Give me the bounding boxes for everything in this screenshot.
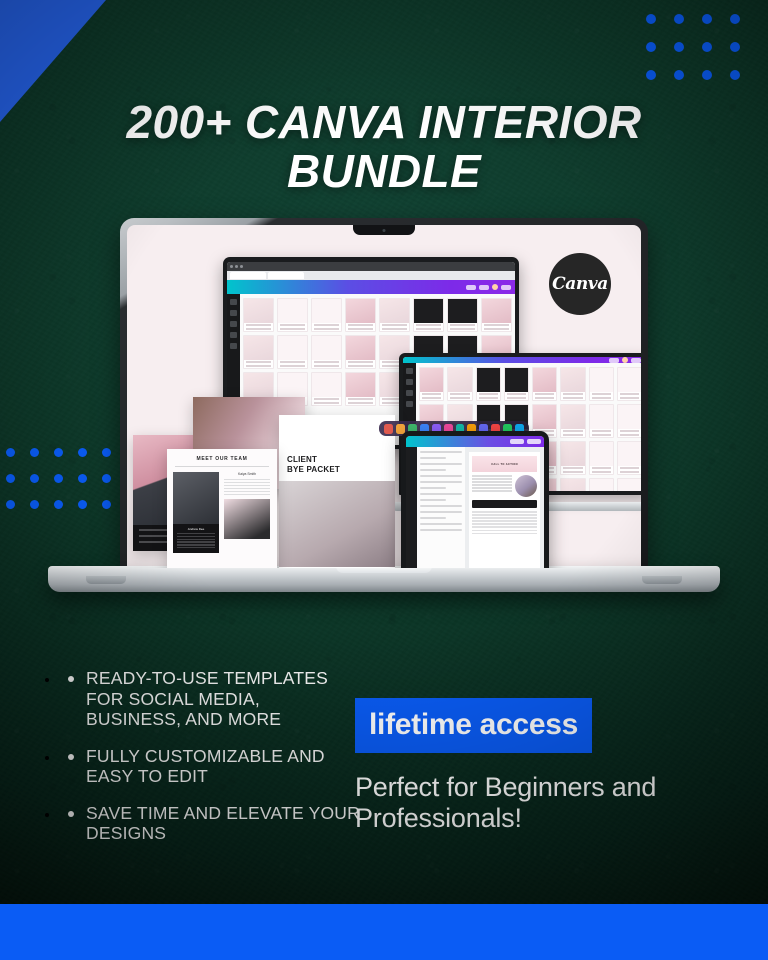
canva-toolbar — [227, 280, 515, 294]
template-thumbnail-line — [280, 365, 305, 367]
template-thumbnail-image — [505, 368, 528, 392]
template-thumbnail-image — [244, 299, 273, 323]
promo-subtitle: Perfect for Beginners and Professionals! — [355, 772, 685, 834]
feature-list: Ready-to-use templates for social media,… — [60, 668, 360, 844]
template-thumbnail-image — [618, 405, 641, 429]
template-thumbnail-image — [482, 299, 511, 323]
template-thumbnail-line — [246, 361, 271, 363]
template-thumbnail-line — [246, 324, 271, 326]
template-thumbnail-image — [533, 368, 556, 392]
list-item: Ready-to-use templates for social media,… — [60, 668, 360, 730]
template-thumbnail-line — [563, 430, 582, 432]
template-thumbnail — [532, 367, 557, 401]
laptop-screen: Canva CLIENT BYE PACKET — [127, 225, 641, 568]
template-thumbnail-image — [618, 479, 641, 491]
template-thumbnail — [617, 404, 641, 438]
template-thumbnail-line — [314, 361, 339, 363]
browser-window-controls — [227, 262, 515, 271]
flyer-client-photo — [279, 481, 395, 567]
dot — [674, 70, 684, 80]
tablet-doc-text-column — [472, 475, 512, 497]
laptop-camera-notch — [353, 225, 415, 235]
flyer-team-photo-left — [173, 472, 219, 524]
template-thumbnail — [589, 441, 614, 475]
dot — [646, 42, 656, 52]
feature-text: Save time and elevate your designs — [86, 803, 360, 844]
template-thumbnail — [413, 298, 444, 332]
template-thumbnail-line — [479, 393, 498, 395]
template-thumbnail-line — [592, 467, 611, 469]
template-thumbnail-image — [312, 373, 341, 397]
template-thumbnail — [447, 367, 472, 401]
template-thumbnail — [617, 478, 641, 491]
flyer-team-name-left: Andrew Dee — [175, 527, 217, 531]
template-thumbnail-line — [563, 471, 582, 473]
template-thumbnail-line — [246, 365, 271, 367]
template-thumbnail-line — [348, 402, 373, 404]
template-thumbnail-image — [590, 405, 613, 429]
template-thumbnail-image — [533, 405, 556, 429]
template-thumbnail-image — [278, 336, 307, 360]
laptop-foot-left — [86, 576, 126, 584]
template-thumbnail — [311, 335, 342, 369]
flyer-stack: CLIENT BYE PACKET NOVEMBER 2021 IAL SALE… — [133, 397, 343, 557]
template-thumbnail-line — [620, 467, 639, 469]
template-thumbnail — [447, 298, 478, 332]
template-thumbnail-line — [450, 393, 469, 395]
flyer-client-title-1: CLIENT — [287, 455, 387, 465]
template-thumbnail-line — [450, 397, 469, 399]
tablet-document-canvas: CALL TO ACTION — [465, 447, 544, 568]
dot — [6, 474, 15, 483]
dot-grid-top-right — [646, 14, 758, 98]
template-thumbnail — [504, 367, 529, 401]
template-thumbnail-line — [592, 471, 611, 473]
flyer-team-title: MEET OUR TEAM — [173, 456, 271, 462]
template-thumbnail-line — [535, 397, 554, 399]
template-thumbnail-image — [561, 405, 584, 429]
template-thumbnail — [277, 335, 308, 369]
template-thumbnail-line — [416, 324, 441, 326]
page-title-line-1: 200+ CANVA INTERIOR — [127, 96, 642, 148]
tablet-doc-image — [515, 475, 537, 497]
flyer-meet-our-team: MEET OUR TEAM Andrew Dee — [167, 449, 277, 568]
promo-block: lifetime access Perfect for Beginners an… — [355, 698, 685, 834]
page-title-line-2: BUNDLE — [60, 147, 708, 196]
template-thumbnail — [560, 404, 585, 438]
template-thumbnail-line — [620, 430, 639, 432]
dot — [674, 14, 684, 24]
template-thumbnail-line — [479, 397, 498, 399]
flyer-team-photo-right — [224, 499, 270, 539]
tablet-sidebar-rail — [406, 447, 417, 568]
template-thumbnail-line — [416, 328, 441, 330]
template-thumbnail — [345, 335, 376, 369]
flyer-client-packet: CLIENT BYE PACKET NOVEMBER 2021 IAL SALE… — [279, 415, 395, 568]
template-thumbnail-line — [620, 471, 639, 473]
template-thumbnail-image — [590, 368, 613, 392]
template-thumbnail-image — [346, 336, 375, 360]
template-thumbnail — [589, 367, 614, 401]
feature-text: Ready-to-use templates for social media,… — [86, 668, 360, 730]
flyer-team-member-right: Kaiya Smith — [224, 472, 270, 553]
template-thumbnail-line — [563, 434, 582, 436]
template-thumbnail-image — [618, 442, 641, 466]
flyer-team-name-right: Kaiya Smith — [224, 472, 270, 476]
dock-app-icon — [384, 424, 393, 434]
dot — [730, 42, 740, 52]
template-thumbnail-line — [563, 467, 582, 469]
laptop-foot-right — [642, 576, 682, 584]
flyer-client-title-2: BYE PACKET — [287, 465, 387, 475]
dot — [730, 70, 740, 80]
inner-tablet-screen: CALL TO ACTION — [406, 436, 544, 568]
dot — [730, 14, 740, 24]
tablet-canva-toolbar — [406, 436, 544, 447]
bullet-icon — [68, 676, 74, 682]
dot — [30, 474, 39, 483]
template-thumbnail-line — [422, 393, 441, 395]
template-thumbnail-line — [450, 328, 475, 330]
template-thumbnail-line — [348, 365, 373, 367]
template-thumbnail-line — [314, 365, 339, 367]
tablet-doc-cta-button — [472, 500, 537, 508]
dot — [646, 70, 656, 80]
list-item: Save time and elevate your designs — [60, 803, 360, 844]
flyer-team-bio-left: Andrew Dee — [173, 524, 219, 553]
template-thumbnail-line — [348, 361, 373, 363]
template-thumbnail-line — [314, 328, 339, 330]
dot — [702, 42, 712, 52]
template-thumbnail — [589, 478, 614, 491]
canva-logo-text: Canva — [552, 274, 608, 294]
template-thumbnail — [419, 367, 444, 401]
template-thumbnail-image — [448, 299, 477, 323]
template-thumbnail-line — [592, 434, 611, 436]
template-thumbnail-line — [620, 397, 639, 399]
template-thumbnail — [481, 298, 512, 332]
tablet-doc-row — [472, 475, 537, 497]
tablet-doc-body-text — [472, 511, 537, 534]
dot — [702, 70, 712, 80]
template-thumbnail — [277, 298, 308, 332]
template-thumbnail-line — [348, 324, 373, 326]
template-thumbnail-image — [380, 299, 409, 323]
template-thumbnail-line — [314, 324, 339, 326]
template-thumbnail-image — [618, 368, 641, 392]
template-thumbnail-line — [382, 328, 407, 330]
template-thumbnail-image — [414, 299, 443, 323]
template-thumbnail-line — [620, 434, 639, 436]
template-thumbnail — [617, 441, 641, 475]
template-thumbnail-line — [592, 430, 611, 432]
dot — [6, 500, 15, 509]
template-thumbnail-line — [507, 397, 526, 399]
list-item: Fully customizable and easy to edit — [60, 746, 360, 787]
template-thumbnail-line — [246, 328, 271, 330]
template-thumbnail-image — [346, 299, 375, 323]
flyer-team-divider — [175, 466, 269, 467]
template-thumbnail-image — [312, 336, 341, 360]
flyer-client-date: NOVEMBER 2021 — [279, 567, 395, 568]
template-thumbnail-image — [590, 479, 613, 491]
template-thumbnail — [243, 335, 274, 369]
template-thumbnail-image — [561, 442, 584, 466]
flyer-team-member-left: Andrew Dee — [173, 472, 219, 553]
template-thumbnail-line — [535, 393, 554, 395]
browser-tab-strip — [227, 271, 515, 280]
dot — [674, 42, 684, 52]
template-thumbnail — [243, 298, 274, 332]
template-thumbnail-line — [592, 397, 611, 399]
template-thumbnail-image — [477, 368, 500, 392]
tablet-document-page: CALL TO ACTION — [469, 452, 540, 568]
tablet-workspace: CALL TO ACTION — [406, 447, 544, 568]
tablet-doc-banner: CALL TO ACTION — [472, 456, 537, 472]
dot — [30, 500, 39, 509]
tablet-outline-panel — [417, 447, 465, 568]
template-thumbnail-image — [346, 373, 375, 397]
template-thumbnail — [560, 367, 585, 401]
template-thumbnail-image — [312, 299, 341, 323]
template-thumbnail — [345, 298, 376, 332]
laptop-mockup: Canva CLIENT BYE PACKET — [48, 218, 720, 610]
template-thumbnail-line — [348, 398, 373, 400]
template-thumbnail-line — [348, 328, 373, 330]
template-thumbnail-image — [448, 368, 471, 392]
template-thumbnail — [345, 372, 376, 406]
flyer-team-columns: Andrew Dee Kaiya Smith — [173, 472, 271, 553]
template-thumbnail — [617, 367, 641, 401]
bullet-icon — [68, 811, 74, 817]
template-thumbnail-line — [422, 397, 441, 399]
poster-canvas: 200+ CANVA INTERIOR BUNDLE Canva — [0, 0, 768, 960]
template-thumbnail-image — [278, 373, 307, 397]
feature-text: Fully customizable and easy to edit — [86, 746, 360, 787]
dot — [30, 448, 39, 457]
template-thumbnail-line — [382, 324, 407, 326]
page-title: 200+ CANVA INTERIOR BUNDLE — [0, 98, 768, 196]
user-avatar — [492, 284, 498, 290]
template-thumbnail-line — [484, 328, 509, 330]
template-thumbnail-line — [563, 393, 582, 395]
template-thumbnail-line — [280, 361, 305, 363]
template-thumbnail-image — [420, 368, 443, 392]
template-thumbnail-line — [507, 393, 526, 395]
template-thumbnail — [379, 298, 410, 332]
tablet-doc-banner-text: CALL TO ACTION — [491, 463, 518, 466]
flyer-client-header: CLIENT BYE PACKET — [279, 415, 395, 481]
bottom-accent-bar — [0, 904, 768, 960]
template-thumbnail-line — [450, 324, 475, 326]
template-thumbnail-line — [280, 324, 305, 326]
template-thumbnail-line — [620, 393, 639, 395]
template-thumbnail — [476, 367, 501, 401]
template-thumbnail-image — [244, 373, 273, 397]
template-thumbnail — [560, 478, 585, 491]
laptop-lid: Canva CLIENT BYE PACKET — [120, 218, 648, 568]
canva-logo-badge: Canva — [549, 253, 611, 315]
template-thumbnail — [560, 441, 585, 475]
template-thumbnail-line — [563, 397, 582, 399]
lifetime-access-badge: lifetime access — [355, 698, 592, 753]
dot — [6, 448, 15, 457]
template-thumbnail-image — [590, 442, 613, 466]
dot — [702, 14, 712, 24]
template-thumbnail-image — [244, 336, 273, 360]
template-thumbnail-image — [278, 299, 307, 323]
template-thumbnail-image — [561, 368, 584, 392]
inner-tablet-mockup: CALL TO ACTION — [401, 431, 549, 568]
template-thumbnail-line — [280, 328, 305, 330]
bullet-icon — [68, 754, 74, 760]
template-thumbnail-line — [592, 393, 611, 395]
dot — [646, 14, 656, 24]
laptop-base — [48, 566, 720, 592]
template-thumbnail-image — [561, 479, 584, 491]
template-thumbnail — [311, 298, 342, 332]
template-thumbnail — [589, 404, 614, 438]
template-thumbnail-line — [484, 324, 509, 326]
